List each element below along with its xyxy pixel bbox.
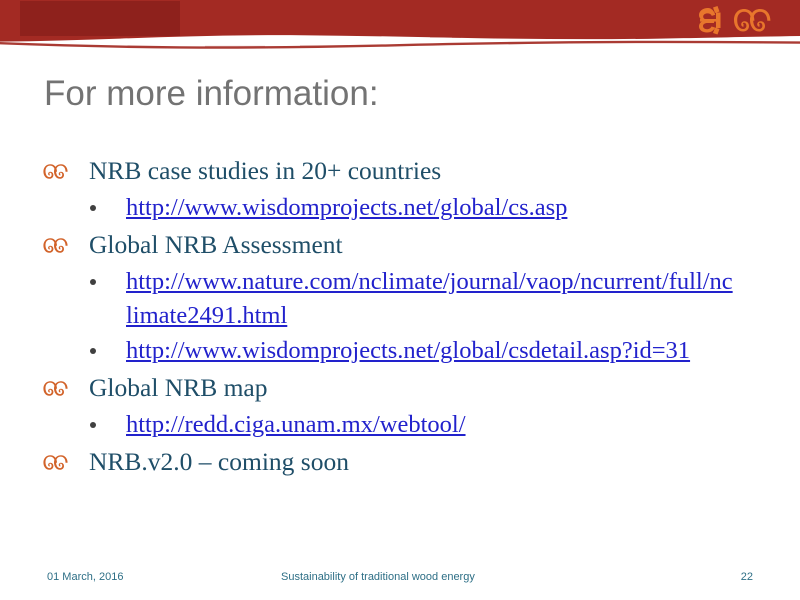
adinkra-spiral-bullet-icon bbox=[42, 454, 68, 471]
adinkra-spiral-bullet-icon bbox=[42, 380, 68, 397]
list-item-level2: http://www.nature.com/nclimate/journal/v… bbox=[40, 265, 760, 333]
hyperlink-wrapper: http://www.nature.com/nclimate/journal/v… bbox=[126, 265, 738, 333]
hyperlink-wrapper: http://www.wisdomprojects.net/global/csd… bbox=[126, 334, 738, 368]
hyperlink[interactable]: http://www.wisdomprojects.net/global/csd… bbox=[126, 337, 690, 364]
list-item-level1: Global NRB map bbox=[40, 369, 760, 407]
hyperlink-wrapper: http://redd.ciga.unam.mx/webtool/ bbox=[126, 408, 738, 442]
round-bullet-icon bbox=[90, 348, 96, 354]
list-item-level1: NRB case studies in 20+ countries bbox=[40, 152, 760, 190]
adinkra-spiral-bullet-icon bbox=[42, 163, 68, 180]
list-item-level2: http://redd.ciga.unam.mx/webtool/ bbox=[40, 408, 760, 442]
list-item-label: NRB case studies in 20+ countries bbox=[89, 156, 441, 185]
list-item-level1: Global NRB Assessment bbox=[40, 226, 760, 264]
presentation-slide: For more information: NRB case studies i… bbox=[0, 0, 800, 600]
header-band-graphic bbox=[0, 0, 800, 56]
bullet-list: NRB case studies in 20+ countries http:/… bbox=[40, 152, 760, 482]
page-title: For more information: bbox=[44, 72, 744, 116]
hyperlink-wrapper: http://www.wisdomprojects.net/global/cs.… bbox=[126, 191, 738, 225]
footer-page-number: 22 bbox=[741, 571, 753, 583]
slide-footer: 01 March, 2016 Sustainability of traditi… bbox=[0, 566, 800, 592]
round-bullet-icon bbox=[90, 205, 96, 211]
list-item-label: Global NRB map bbox=[89, 373, 268, 402]
round-bullet-icon bbox=[90, 422, 96, 428]
hyperlink[interactable]: http://www.wisdomprojects.net/global/cs.… bbox=[126, 194, 567, 221]
footer-subject: Sustainability of traditional wood energ… bbox=[281, 571, 475, 583]
adinkra-spiral-bullet-icon bbox=[42, 237, 68, 254]
slide-header-band bbox=[0, 0, 800, 56]
hyperlink[interactable]: http://www.nature.com/nclimate/journal/v… bbox=[126, 268, 733, 329]
list-item-level1: NRB.v2.0 – coming soon bbox=[40, 443, 760, 481]
list-item-level2: http://www.wisdomprojects.net/global/cs.… bbox=[40, 191, 760, 225]
list-item-label: NRB.v2.0 – coming soon bbox=[89, 447, 349, 476]
list-item-level2: http://www.wisdomprojects.net/global/csd… bbox=[40, 334, 760, 368]
adinkra-ornament-right bbox=[734, 9, 770, 32]
adinkra-ornament-left bbox=[699, 6, 721, 35]
hyperlink[interactable]: http://redd.ciga.unam.mx/webtool/ bbox=[126, 411, 466, 438]
round-bullet-icon bbox=[90, 279, 96, 285]
header-ornament-group bbox=[694, 4, 772, 36]
footer-date: 01 March, 2016 bbox=[47, 571, 123, 583]
list-item-label: Global NRB Assessment bbox=[89, 230, 343, 259]
